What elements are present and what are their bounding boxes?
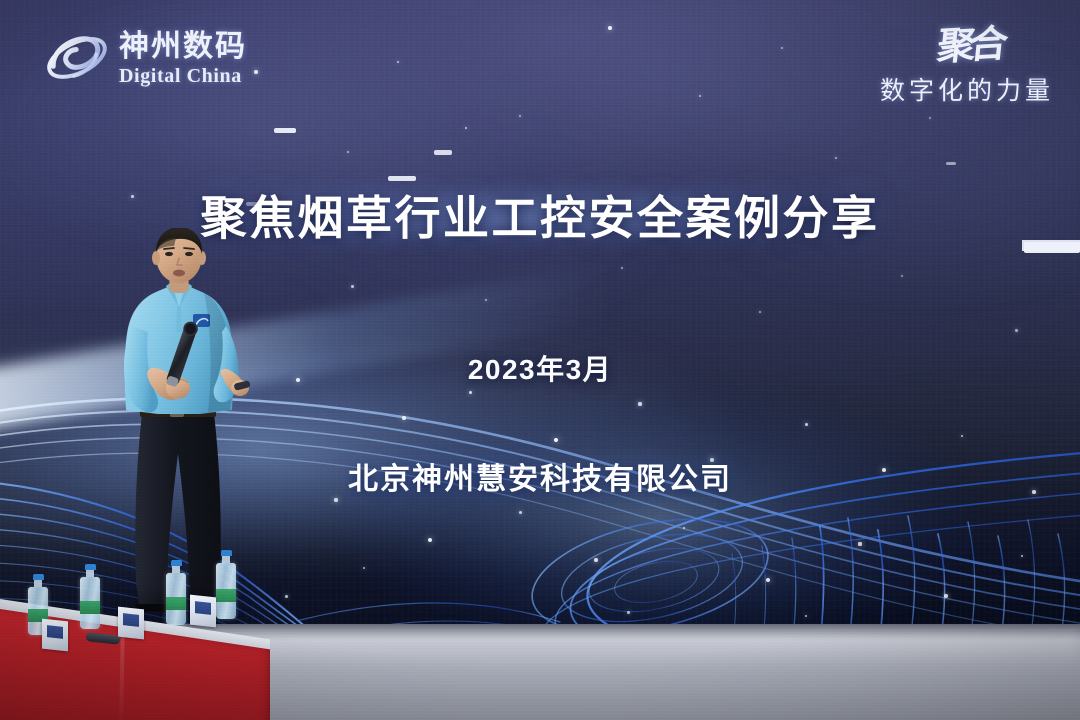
bottle-neck xyxy=(222,556,230,563)
digital-china-name-en: Digital China xyxy=(119,66,247,86)
event-tagline-cn: 数字化的力量 xyxy=(744,71,1054,107)
bottle-body xyxy=(80,577,100,629)
name-placard xyxy=(42,619,68,652)
event-mark-cn: 聚合 xyxy=(935,12,1005,70)
event-brand-mark: 聚合 数字化的力量 xyxy=(744,14,1054,114)
bottle-label xyxy=(216,589,236,602)
bottle-neck xyxy=(172,566,180,573)
bottle-label xyxy=(166,597,186,610)
water-bottle xyxy=(216,550,236,619)
water-bottle xyxy=(166,560,186,625)
name-placard xyxy=(118,607,144,640)
bottle-neck xyxy=(34,580,42,587)
digital-china-wordmark: 神州数码 Digital China xyxy=(119,30,247,86)
panel-table xyxy=(0,560,300,720)
bottle-label xyxy=(80,601,100,614)
bottle-neck xyxy=(86,570,94,577)
digital-china-logo: 神州数码 Digital China xyxy=(44,22,344,94)
name-placard xyxy=(190,595,216,628)
bottle-body xyxy=(216,563,236,619)
bottle-body xyxy=(166,573,186,625)
digital-china-name-cn: 神州数码 xyxy=(119,32,247,62)
digital-china-swirl-icon xyxy=(44,29,110,87)
conference-photo: 神州数码 Digital China 聚合 数字化的力量 聚焦烟草行业工控安全案… xyxy=(0,0,1080,720)
water-bottle xyxy=(80,564,100,629)
